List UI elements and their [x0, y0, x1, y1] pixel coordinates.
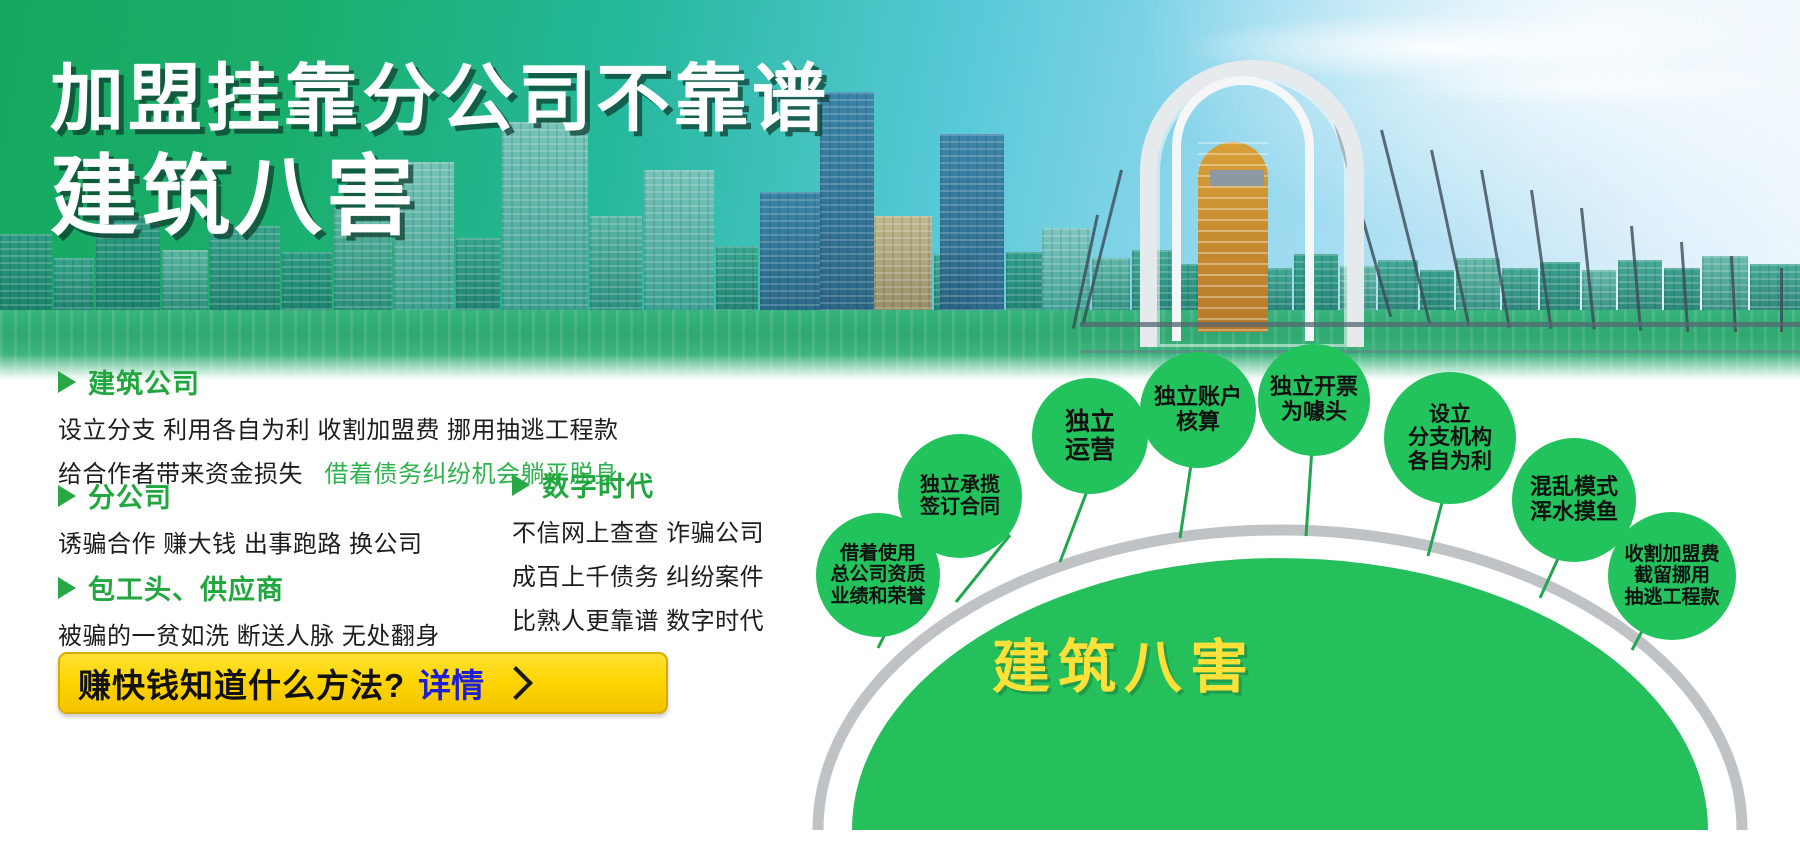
- bubble-line: 独立承揽: [920, 474, 1000, 496]
- triangle-bullet-icon: [512, 474, 530, 496]
- section-branch-company: 分公司 诱骗合作 赚大钱 出事跑路 换公司: [58, 476, 423, 559]
- bubble-item[interactable]: 独立账户 核算: [1140, 352, 1256, 468]
- bubble-line: 设立: [1408, 403, 1492, 427]
- bubble-line: 浑水摸鱼: [1530, 500, 1618, 525]
- section-body-line: 被骗的一贫如洗 断送人脉 无处翻身: [58, 616, 440, 651]
- bubble-line: 核算: [1154, 410, 1242, 435]
- section-body-line: 设立分支 利用各自为利 收割加盟费 挪用抽逃工程款: [58, 410, 619, 445]
- bubble-line: 业绩和荣誉: [830, 586, 925, 607]
- section-body-line: 诱骗合作 赚大钱 出事跑路 换公司: [58, 524, 423, 559]
- bubble-item[interactable]: 独立开票 为噱头: [1258, 344, 1370, 456]
- bubble-line: 签订合同: [920, 496, 1000, 518]
- headline-line-2: 建筑八害: [50, 150, 830, 243]
- bubble-line: 借着使用: [830, 543, 925, 564]
- poster-root: 加盟挂靠分公司不靠谱 建筑八害 建筑公司 设立分支 利用各自为利 收割加盟费 挪…: [0, 0, 1800, 844]
- section-heading: 分公司: [58, 476, 423, 515]
- bubble-line: 抽逃工程款: [1624, 587, 1719, 608]
- bubble-item[interactable]: 收割加盟费 截留挪用 抽逃工程款: [1608, 512, 1736, 640]
- triangle-bullet-icon: [58, 485, 76, 507]
- section-digital-era: 数字时代 不信网上查查 诈骗公司 成百上千债务 纠纷案件 比熟人更靠谱 数字时代: [512, 465, 764, 636]
- section-title-text: 分公司: [88, 476, 172, 515]
- hero-headline: 加盟挂靠分公司不靠谱 建筑八害: [50, 60, 830, 244]
- triangle-bullet-icon: [58, 371, 76, 393]
- bubble-item[interactable]: 设立 分支机构 各自为利: [1384, 372, 1516, 504]
- section-heading: 建筑公司: [58, 362, 619, 401]
- section-body-line: 成百上千债务 纠纷案件: [512, 557, 764, 592]
- bubble-line: 截留挪用: [1624, 565, 1719, 586]
- hero-banner: 加盟挂靠分公司不靠谱 建筑八害: [0, 0, 1800, 380]
- bridge-illustration: [1080, 50, 1800, 350]
- chevron-right-icon: [499, 666, 533, 700]
- bubble-line: 独立开票: [1270, 375, 1358, 400]
- section-heading: 包工头、供应商: [58, 568, 440, 607]
- section-title-text: 数字时代: [542, 465, 654, 504]
- bubble-item[interactable]: 独立 运营: [1032, 378, 1148, 494]
- headline-line-1: 加盟挂靠分公司不靠谱: [50, 60, 830, 138]
- bubble-line: 独立: [1065, 408, 1115, 436]
- cta-main-label: 赚快钱知道什么方法?: [78, 659, 405, 707]
- bubble-item[interactable]: 独立承揽 签订合同: [898, 434, 1022, 558]
- bridge-sign: [1210, 170, 1264, 186]
- bubble-line: 总公司资质: [830, 564, 925, 585]
- section-body-line: 比熟人更靠谱 数字时代: [512, 601, 764, 636]
- bubble-line: 独立账户: [1154, 385, 1242, 410]
- section-contractor-supplier: 包工头、供应商 被骗的一贫如洗 断送人脉 无处翻身: [58, 568, 440, 651]
- bubble-diagram: 借着使用 总公司资质 业绩和荣誉 独立承揽 签订合同 独立 运营 独立账户 核算: [760, 330, 1800, 844]
- section-title-text: 建筑公司: [88, 362, 200, 401]
- bubble-line: 运营: [1065, 436, 1115, 464]
- cta-button[interactable]: 赚快钱知道什么方法? 详情: [58, 652, 668, 714]
- section-title-text: 包工头、供应商: [88, 568, 284, 607]
- cta-detail-link[interactable]: 详情: [418, 659, 484, 707]
- section-body-line: 不信网上查查 诈骗公司: [512, 513, 764, 548]
- dome-center-label: 建筑八害: [992, 620, 1256, 704]
- bubble-line: 收割加盟费: [1624, 544, 1719, 565]
- section-heading: 数字时代: [512, 465, 764, 504]
- left-content: 建筑公司 设立分支 利用各自为利 收割加盟费 挪用抽逃工程款 给合作者带来资金损…: [0, 380, 760, 844]
- triangle-bullet-icon: [58, 577, 76, 599]
- bubble-line: 分支机构: [1408, 426, 1492, 450]
- bubble-line: 混乱模式: [1530, 475, 1618, 500]
- bubble-line: 为噱头: [1270, 400, 1358, 425]
- bubble-line: 各自为利: [1408, 450, 1492, 474]
